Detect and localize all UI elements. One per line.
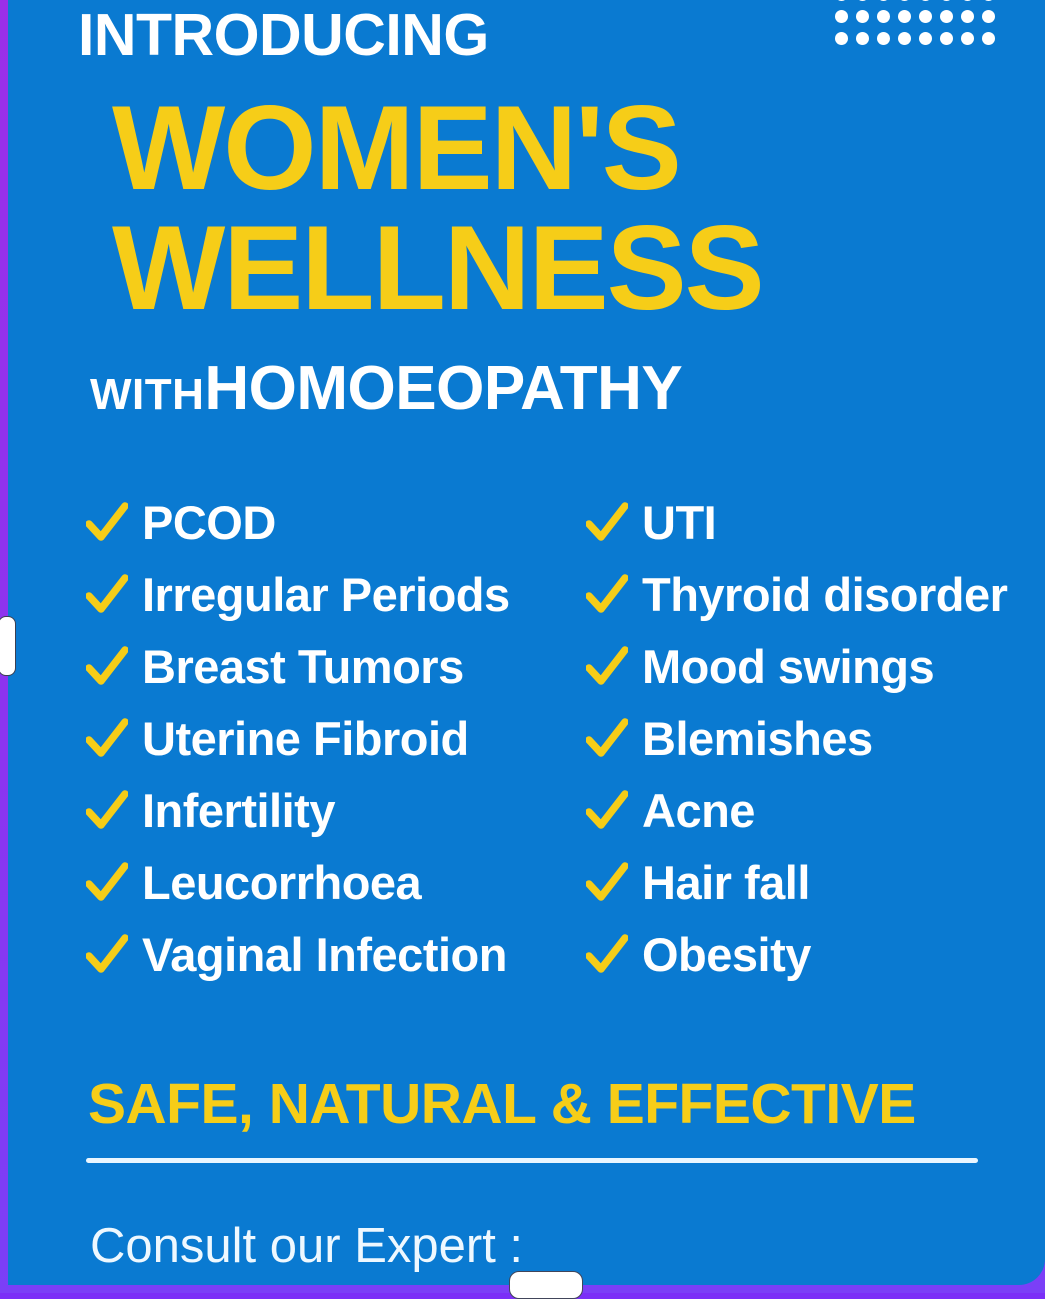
check-icon — [586, 788, 628, 832]
dot — [982, 32, 995, 45]
dot — [961, 0, 974, 1]
checklist-item: Infertility — [86, 774, 586, 846]
checklist-item: Thyroid disorder — [586, 558, 1045, 630]
dot — [898, 10, 911, 23]
checklist-item-label: Infertility — [142, 787, 335, 834]
page-title-line-1: WOMEN'S — [112, 88, 680, 208]
dot — [877, 32, 890, 45]
dot — [961, 10, 974, 23]
subtitle-prefix: WITH — [90, 370, 204, 419]
check-icon — [586, 572, 628, 616]
checklist-item-label: Obesity — [642, 931, 811, 978]
checklist-item-label: Vaginal Infection — [142, 931, 507, 978]
checklist-item: Breast Tumors — [86, 630, 586, 702]
dot — [940, 10, 953, 23]
check-icon — [86, 572, 128, 616]
checklist-item: PCOD — [86, 486, 586, 558]
eyebrow-heading: INTRODUCING — [78, 6, 489, 65]
checklist-item-label: PCOD — [142, 499, 276, 546]
checklist-item: UTI — [586, 486, 1045, 558]
dot — [835, 0, 848, 1]
checklist-item-label: UTI — [642, 499, 716, 546]
checklist-item: Vaginal Infection — [86, 918, 586, 990]
dot — [877, 10, 890, 23]
check-icon — [86, 500, 128, 544]
checklist-item-label: Acne — [642, 787, 755, 834]
checklist-item-label: Thyroid disorder — [642, 571, 1007, 618]
subtitle-main: HOMOEOPATHY — [204, 354, 682, 423]
dot — [856, 0, 869, 1]
dot — [982, 10, 995, 23]
page-subtitle: WITHHOMOEOPATHY — [90, 358, 682, 420]
checklist-item: Leucorrhoea — [86, 846, 586, 918]
check-icon — [586, 500, 628, 544]
dot — [961, 32, 974, 45]
checklist-item-label: Breast Tumors — [142, 643, 464, 690]
dot — [898, 32, 911, 45]
tagline-text: SAFE, NATURAL & EFFECTIVE — [88, 1076, 916, 1133]
checklist-item-label: Leucorrhoea — [142, 859, 421, 906]
dot — [919, 32, 932, 45]
dot — [919, 0, 932, 1]
dot — [856, 32, 869, 45]
checklist-item: Obesity — [586, 918, 1045, 990]
dot — [919, 10, 932, 23]
dot — [940, 32, 953, 45]
check-icon — [86, 860, 128, 904]
checklist-item: Uterine Fibroid — [86, 702, 586, 774]
dot-grid-ornament — [835, 0, 1003, 54]
checklist-item: Hair fall — [586, 846, 1045, 918]
check-icon — [86, 788, 128, 832]
check-icon — [86, 644, 128, 688]
check-icon — [586, 860, 628, 904]
checklist-item: Blemishes — [586, 702, 1045, 774]
check-icon — [586, 716, 628, 760]
dot — [982, 0, 995, 1]
check-icon — [86, 932, 128, 976]
dot — [940, 0, 953, 1]
checklist-item: Mood swings — [586, 630, 1045, 702]
home-indicator[interactable] — [509, 1271, 583, 1299]
dot — [835, 10, 848, 23]
checklist-item-label: Blemishes — [642, 715, 873, 762]
check-icon — [86, 716, 128, 760]
benefits-checklist: PCODUTIIrregular PeriodsThyroid disorder… — [86, 486, 1045, 990]
consult-expert-label: Consult our Expert : — [90, 1222, 523, 1271]
checklist-item-label: Irregular Periods — [142, 571, 510, 618]
check-icon — [586, 932, 628, 976]
page-title-line-2: WELLNESS — [112, 208, 763, 328]
dot — [856, 10, 869, 23]
checklist-item: Acne — [586, 774, 1045, 846]
volume-button[interactable] — [0, 616, 16, 676]
checklist-item-label: Hair fall — [642, 859, 810, 906]
check-icon — [586, 644, 628, 688]
checklist-item-label: Mood swings — [642, 643, 934, 690]
horizontal-divider — [86, 1158, 978, 1163]
checklist-item: Irregular Periods — [86, 558, 586, 630]
dot — [877, 0, 890, 1]
dot — [898, 0, 911, 1]
checklist-item-label: Uterine Fibroid — [142, 715, 469, 762]
dot — [835, 32, 848, 45]
poster-card: INTRODUCING WOMEN'S WELLNESS WITHHOMOEOP… — [8, 0, 1045, 1285]
